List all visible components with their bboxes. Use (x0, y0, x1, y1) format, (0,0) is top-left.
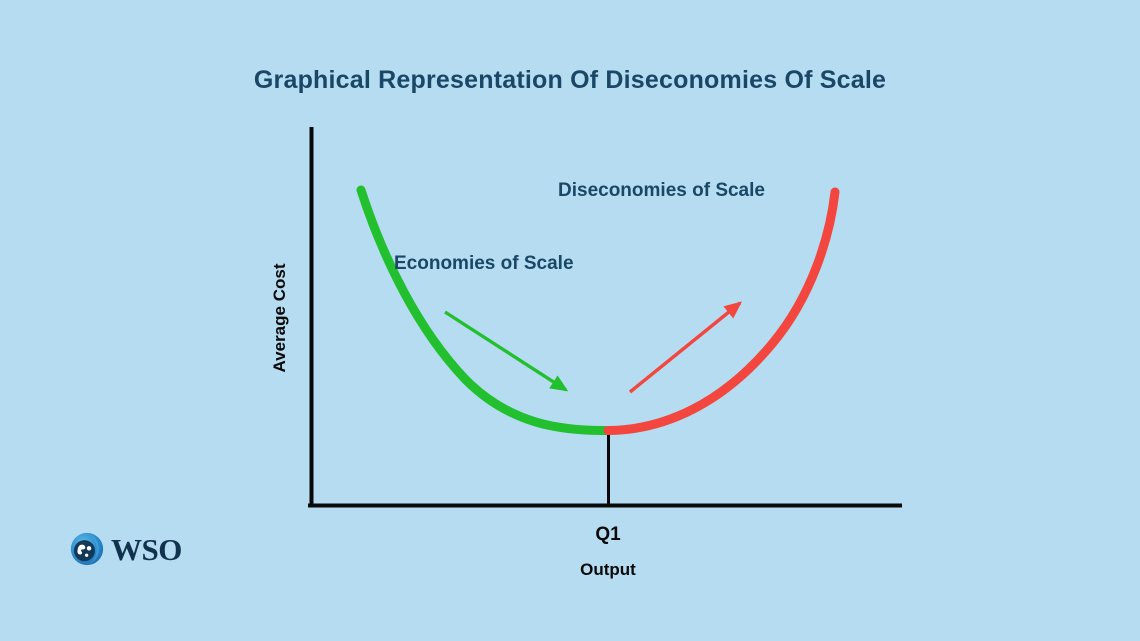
x-axis-label: Output (508, 560, 708, 580)
x-axis-tick-q1: Q1 (508, 524, 708, 546)
diseconomies-arrow-icon (630, 303, 740, 392)
page-title: Graphical Representation Of Diseconomies… (0, 66, 1140, 95)
y-axis-label: Average Cost (270, 238, 290, 398)
wso-wordmark: WSO (111, 534, 182, 565)
economies-of-scale-label: Economies of Scale (394, 253, 574, 275)
wso-logo: WSO (70, 532, 182, 566)
diseconomies-of-scale-label: Diseconomies of Scale (558, 180, 765, 202)
globe-icon (70, 532, 104, 566)
economies-of-scale-curve (361, 190, 608, 431)
diseconomies-of-scale-curve (608, 192, 835, 431)
